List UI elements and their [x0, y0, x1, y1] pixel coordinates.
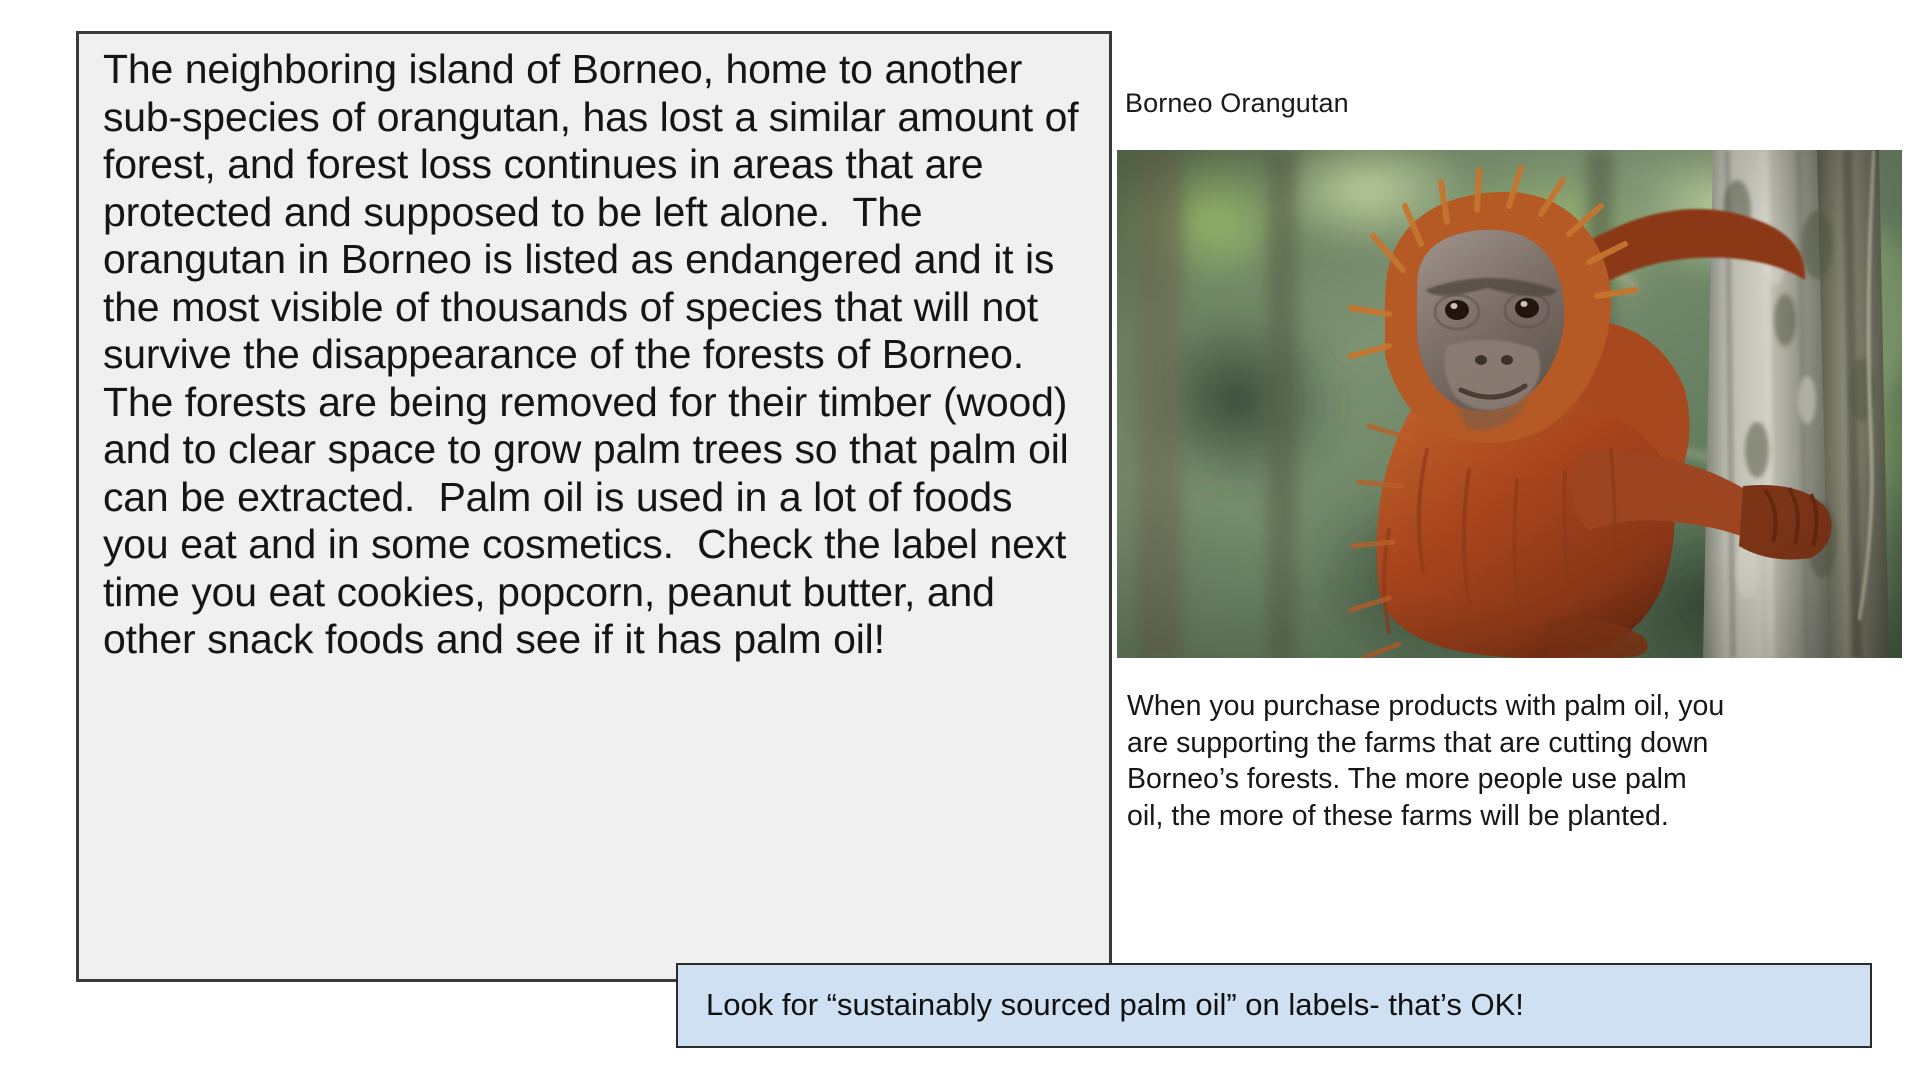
- right-column: Borneo Orangutan: [1117, 31, 1907, 891]
- main-text-panel: The neighboring island of Borneo, home t…: [76, 31, 1112, 982]
- photo-title-label: Borneo Orangutan: [1125, 88, 1349, 119]
- callout-text: Look for “sustainably sourced palm oil” …: [706, 986, 1524, 1024]
- photo-caption: When you purchase products with palm oil…: [1127, 688, 1727, 834]
- main-body-paragraph: The neighboring island of Borneo, home t…: [103, 46, 1083, 664]
- callout-box: Look for “sustainably sourced palm oil” …: [676, 963, 1872, 1048]
- orangutan-photo: [1117, 150, 1902, 658]
